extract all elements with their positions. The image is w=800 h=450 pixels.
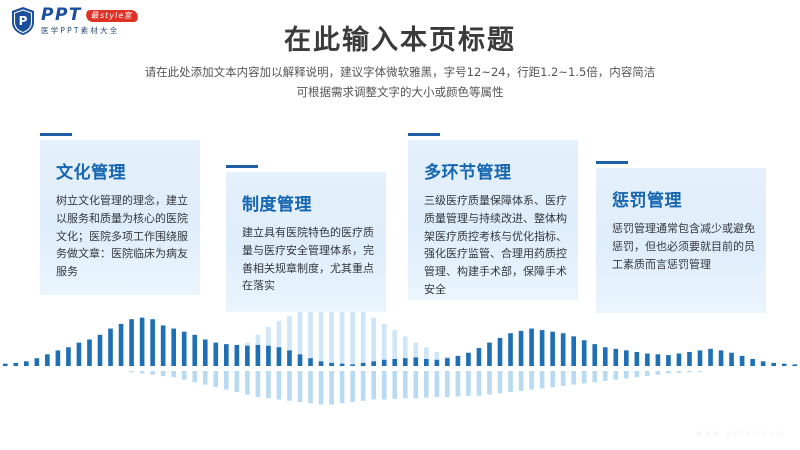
waveform-bar — [371, 318, 376, 366]
waveform-bar — [487, 343, 492, 366]
waveform-bar — [224, 371, 229, 390]
waveform-bar — [287, 316, 292, 366]
waveform-bar — [361, 363, 366, 366]
waveform-bar — [277, 347, 282, 366]
waveform-bar — [203, 371, 208, 385]
waveform-bar — [308, 358, 313, 366]
waveform-bar — [635, 371, 640, 377]
waveform-bar — [435, 371, 440, 397]
waveform-bar — [256, 335, 261, 366]
waveform-bar — [329, 363, 334, 366]
card-body: 树立文化管理的理念，建立以服务和质量为核心的医院文化；医院多项工作围绕服务做文章… — [56, 192, 190, 281]
waveform-bar — [3, 364, 8, 366]
waveform-bar — [445, 358, 450, 366]
waveform-bar — [445, 357, 450, 366]
waveform-bar — [687, 352, 692, 366]
waveform-bar — [308, 307, 313, 366]
card-title: 文化管理 — [56, 158, 190, 183]
waveform-bar — [624, 371, 629, 378]
waveform-bar — [561, 371, 566, 386]
waveform-bar — [256, 345, 261, 366]
info-card-culture[interactable]: 文化管理 树立文化管理的理念，建立以服务和质量为核心的医院文化；医院多项工作围绕… — [40, 140, 200, 295]
waveform-bar — [698, 350, 703, 366]
waveform-bar — [45, 354, 50, 366]
waveform-bar — [519, 371, 524, 391]
waveform-bar — [466, 363, 471, 366]
waveform-bar — [666, 371, 671, 373]
waveform-bar — [477, 371, 482, 396]
waveform-bar — [392, 371, 397, 399]
waveform-bar — [298, 371, 303, 402]
subtitle-line-1: 请在此处添加文本内容加以解释说明，建议字体微软雅黑，字号12~24，行距1.2~… — [0, 62, 800, 82]
waveform-bar — [277, 371, 282, 400]
waveform-bar — [287, 371, 292, 401]
waveform-bar — [613, 371, 618, 380]
waveform-bar — [245, 343, 250, 366]
waveform-bar — [687, 371, 692, 372]
waveform-bar — [340, 364, 345, 366]
waveform-bar — [319, 304, 324, 366]
waveform-bar — [66, 347, 71, 366]
waveform-bar — [729, 353, 734, 366]
waveform-bar — [129, 319, 134, 366]
card-title: 多环节管理 — [424, 158, 568, 183]
waveform-bar — [35, 358, 40, 366]
waveform-bar — [245, 371, 250, 395]
waveform-bar — [792, 364, 797, 366]
waveform-bar — [508, 371, 513, 392]
waveform-bar — [498, 371, 503, 393]
waveform-bar — [466, 353, 471, 366]
waveform-bar — [529, 329, 534, 366]
page-subtitle: 请在此处添加文本内容加以解释说明，建议字体微软雅黑，字号12~24，行距1.2~… — [0, 62, 800, 102]
site-watermark: www.ppter.com — [696, 429, 786, 438]
waveform-bar — [140, 318, 145, 366]
waveform-bar — [298, 354, 303, 366]
card-content: 多环节管理 三级医疗质量保障体系、医疗质量管理与持续改进、整体构架医疗质控考核与… — [424, 158, 568, 299]
waveform-bar — [456, 356, 461, 366]
waveform-bar — [392, 330, 397, 366]
waveform-bar — [550, 371, 555, 387]
card-accent-bar — [408, 133, 440, 136]
waveform-bar — [413, 371, 418, 398]
waveform-bar — [350, 307, 355, 366]
waveform-bar — [561, 333, 566, 366]
waveform-bar — [182, 371, 187, 380]
waveform-bar — [98, 335, 103, 366]
waveform-bar — [403, 336, 408, 366]
waveform-bar — [424, 347, 429, 366]
waveform-bar — [256, 371, 261, 397]
waveform-bar — [350, 371, 355, 402]
waveform-bar — [329, 371, 334, 404]
waveform-bar — [77, 343, 82, 366]
waveform-bar — [666, 355, 671, 366]
waveform-bar — [413, 343, 418, 366]
waveform-bar — [456, 371, 461, 396]
waveform-bar — [213, 371, 218, 387]
card-title: 制度管理 — [242, 190, 376, 215]
waveform-bar — [582, 371, 587, 383]
card-content: 文化管理 树立文化管理的理念，建立以服务和质量为核心的医院文化；医院多项工作围绕… — [56, 158, 190, 281]
waveform-bar — [645, 354, 650, 366]
waveform-bar — [266, 346, 271, 366]
waveform-bar — [603, 371, 608, 381]
waveform-bar — [235, 371, 240, 392]
waveform-bar — [108, 329, 113, 366]
waveform-bar — [361, 371, 366, 401]
subtitle-line-2: 可根据需求调整文字的大小或颜色等属性 — [0, 82, 800, 102]
waveform-bar — [182, 332, 187, 366]
info-card-punishment[interactable]: 惩罚管理 惩罚管理通常包含减少或避免惩罚，但也必须要就目前的员工素质而言惩罚管理 — [596, 168, 766, 313]
waveform-bar — [403, 358, 408, 366]
waveform-bar — [477, 348, 482, 366]
waveform-bar — [266, 371, 271, 398]
card-body: 惩罚管理通常包含减少或避免惩罚，但也必须要就目前的员工素质而言惩罚管理 — [612, 220, 756, 273]
waveform-bar — [235, 349, 240, 366]
waveform-bar — [413, 357, 418, 366]
waveform-bar — [698, 371, 703, 372]
waveform-bar — [56, 350, 61, 366]
waveform-bar — [150, 371, 155, 375]
waveform-bar — [592, 371, 597, 382]
card-title: 惩罚管理 — [612, 186, 756, 211]
waveform-bar — [445, 371, 450, 397]
card-accent-bar — [596, 161, 628, 164]
page-title: 在此输入本页标题 — [0, 18, 800, 57]
waveform-bar — [361, 311, 366, 366]
waveform-bar — [782, 364, 787, 366]
waveform-bar — [340, 371, 345, 403]
card-accent-bar — [226, 165, 258, 168]
waveform-bar — [140, 371, 145, 373]
waveform-bar — [613, 349, 618, 366]
waveform-bar — [424, 371, 429, 398]
waveform-bar — [161, 371, 166, 376]
waveform-bar — [529, 371, 534, 390]
waveform-bar — [424, 359, 429, 366]
waveform-bar — [350, 364, 355, 366]
waveform-bar — [761, 361, 766, 366]
waveform-bar — [466, 371, 471, 396]
info-card-system[interactable]: 制度管理 建立具有医院特色的医疗质量与医疗安全管理体系，完善相关规章制度，尤其重… — [226, 172, 386, 312]
waveform-bar — [582, 340, 587, 366]
waveform-bar — [382, 371, 387, 400]
waveform-bar — [456, 360, 461, 366]
waveform-bar — [719, 350, 724, 366]
waveform-bar — [171, 329, 176, 366]
waveform-bar — [382, 360, 387, 366]
waveform-bar — [298, 311, 303, 366]
waveform-bar — [487, 371, 492, 395]
waveform-bar — [677, 371, 682, 373]
card-accent-bar — [40, 133, 72, 136]
waveform-bar — [571, 371, 576, 385]
waveform-bar — [203, 339, 208, 366]
waveform-bar — [371, 371, 376, 400]
waveform-bar — [213, 343, 218, 366]
waveform-bar — [540, 330, 545, 366]
card-body: 三级医疗质量保障体系、医疗质量管理与持续改进、整体构架医疗质控考核与优化指标、强… — [424, 192, 568, 299]
waveform-bar — [740, 356, 745, 366]
waveform-bar — [308, 371, 313, 403]
waveform-bar — [192, 335, 197, 366]
waveform-bar — [192, 371, 197, 382]
waveform-bar — [171, 371, 176, 377]
waveform-bar — [87, 339, 92, 366]
waveform-bar — [340, 304, 345, 366]
waveform-bar — [161, 325, 166, 366]
waveform-bar — [603, 347, 608, 366]
waveform-bar — [540, 371, 545, 388]
waveform-bar — [519, 331, 524, 366]
waveform-bar — [435, 360, 440, 366]
waveform-bar — [508, 333, 513, 366]
waveform-bar — [13, 363, 18, 366]
waveform-bar — [750, 359, 755, 366]
waveform-bar — [708, 349, 713, 366]
waveform-bar — [24, 361, 29, 366]
card-body: 建立具有医院特色的医疗质量与医疗安全管理体系，完善相关规章制度，尤其重点在落实 — [242, 224, 376, 295]
waveform-bar — [287, 350, 292, 366]
waveform-bar — [150, 319, 155, 366]
waveform-bar — [656, 371, 661, 375]
waveform-bar — [645, 371, 650, 376]
card-content: 制度管理 建立具有医院特色的医疗质量与医疗安全管理体系，完善相关规章制度，尤其重… — [242, 190, 376, 295]
waveform-bar — [571, 336, 576, 366]
waveform-bar — [371, 361, 376, 366]
waveform-bar — [498, 338, 503, 366]
waveform-bar — [319, 361, 324, 366]
waveform-bar — [382, 324, 387, 366]
info-card-multilink[interactable]: 多环节管理 三级医疗质量保障体系、医疗质量管理与持续改进、整体构架医疗质控考核与… — [408, 140, 578, 300]
waveform-bar — [392, 359, 397, 366]
waveform-bar — [592, 344, 597, 366]
waveform-bar — [656, 354, 661, 366]
waveform-bar — [235, 345, 240, 366]
waveform-bar — [624, 350, 629, 366]
waveform-bar — [319, 371, 324, 404]
waveform-bar — [771, 363, 776, 366]
waveform-bar — [119, 324, 124, 366]
waveform-bar — [277, 321, 282, 366]
waveform-bar — [129, 371, 134, 372]
waveform-bar — [635, 352, 640, 366]
waveform-bar — [403, 371, 408, 398]
waveform-bar — [677, 354, 682, 366]
waveform-bar — [435, 352, 440, 366]
card-content: 惩罚管理 惩罚管理通常包含减少或避免惩罚，但也必须要就目前的员工素质而言惩罚管理 — [612, 186, 756, 273]
waveform-bar — [245, 346, 250, 366]
waveform-bar — [224, 344, 229, 366]
waveform-bar — [550, 332, 555, 366]
waveform-bar — [266, 327, 271, 366]
